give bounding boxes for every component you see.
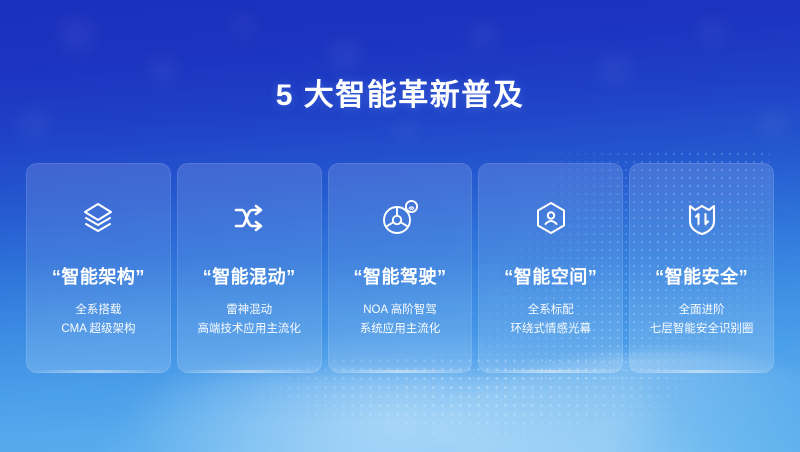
feature-card-title: “智能架构”: [52, 263, 145, 289]
feature-card-title: “智能混动”: [203, 263, 296, 289]
feature-card-description: 全面进阶 七层智能安全识别圈: [650, 301, 754, 339]
background-bokeh: [470, 22, 496, 48]
feature-card-intelligent-architecture[interactable]: “智能架构” 全系搭载 CMA 超级架构: [26, 163, 171, 373]
feature-card-line: 全面进阶: [650, 301, 754, 320]
feature-card-line: 七层智能安全识别圈: [650, 320, 754, 339]
feature-card-description: 雷神混动 高端技术应用主流化: [197, 301, 301, 339]
feature-card-intelligent-driving[interactable]: “智能驾驶” NOA 高阶智驾 系统应用主流化: [328, 163, 473, 373]
feature-card-line: 全系搭载: [61, 301, 135, 320]
cube-icon: [531, 197, 571, 239]
feature-card-list: “智能架构” 全系搭载 CMA 超级架构 “智能混动” 雷神混动 高端技术应用主…: [26, 163, 774, 373]
feature-card-intelligent-safety[interactable]: “智能安全” 全面进阶 七层智能安全识别圈: [629, 163, 774, 373]
feature-card-line: CMA 超级架构: [61, 320, 135, 339]
feature-card-intelligent-space[interactable]: “智能空间” 全系标配 环绕式情感光幕: [478, 163, 623, 373]
feature-card-description: NOA 高阶智驾 系统应用主流化: [360, 301, 441, 339]
background-glow: [120, 372, 680, 452]
background-bokeh: [330, 40, 360, 70]
feature-card-title: “智能驾驶”: [353, 263, 446, 289]
feature-card-line: 高端技术应用主流化: [197, 320, 301, 339]
feature-card-title: “智能空间”: [504, 263, 597, 289]
shuffle-icon: [229, 197, 269, 239]
page-title: 5 大智能革新普及: [0, 70, 800, 114]
feature-card-description: 全系标配 环绕式情感光幕: [511, 301, 592, 339]
feature-card-intelligent-hybrid[interactable]: “智能混动” 雷神混动 高端技术应用主流化: [177, 163, 322, 373]
background-bokeh: [396, 122, 416, 142]
background-bokeh: [60, 18, 94, 52]
background-bokeh: [20, 110, 48, 138]
feature-card-title: “智能安全”: [655, 263, 748, 289]
shield-icon: [682, 197, 722, 239]
feature-card-line: 环绕式情感光幕: [511, 320, 592, 339]
feature-card-line: 系统应用主流化: [360, 320, 441, 339]
slide-canvas: 5 大智能革新普及 “智能架构” 全系搭载 CMA 超级架构: [0, 0, 800, 452]
steering-wheel-icon: [379, 197, 421, 239]
background-bokeh: [700, 20, 724, 44]
background-bokeh: [232, 16, 254, 38]
feature-card-line: 雷神混动: [197, 301, 301, 320]
layers-icon: [78, 197, 118, 239]
feature-card-line: NOA 高阶智驾: [360, 301, 441, 320]
feature-card-line: 全系标配: [511, 301, 592, 320]
feature-card-description: 全系搭载 CMA 超级架构: [61, 301, 135, 339]
